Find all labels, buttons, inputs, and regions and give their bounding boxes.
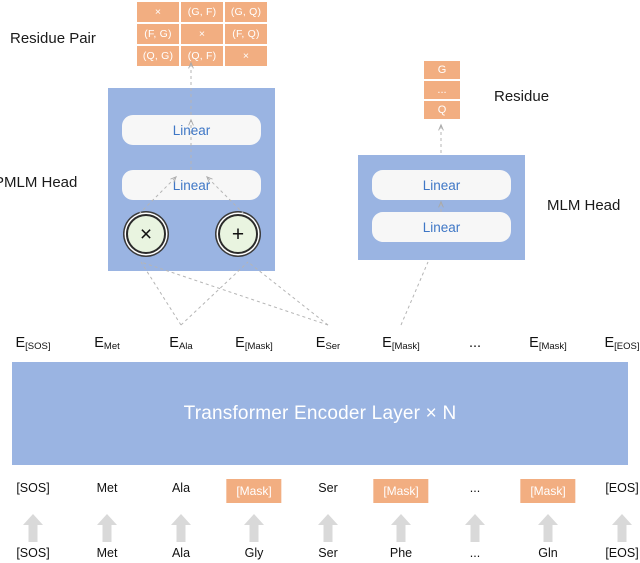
original-token: Met bbox=[97, 546, 118, 560]
embedding-token: E[EOS] bbox=[604, 335, 639, 351]
up-arrow-icon bbox=[317, 513, 339, 543]
token-label: [Mask] bbox=[226, 479, 281, 503]
sequence-token: Ser bbox=[318, 479, 337, 497]
residue-pair-cell: (G, Q) bbox=[225, 2, 267, 22]
embedding-base: E bbox=[235, 335, 245, 351]
token-label: [Mask] bbox=[373, 479, 428, 503]
residue-pair-cell: × bbox=[225, 46, 267, 66]
up-arrow-icon bbox=[170, 513, 192, 543]
sequence-token: [SOS] bbox=[16, 479, 49, 497]
token-label: [SOS] bbox=[16, 481, 49, 495]
up-arrow-icon bbox=[464, 513, 486, 543]
embedding-subscript: Ser bbox=[325, 341, 340, 352]
token-label: Met bbox=[97, 481, 118, 495]
residue-pair-matrix: ×(G, F)(G, Q)(F, G)×(F, Q)(Q, G)(Q, F)× bbox=[137, 2, 267, 66]
token-label: ... bbox=[470, 481, 480, 495]
embedding-token: E[Mask] bbox=[235, 335, 273, 351]
sequence-token: [EOS] bbox=[605, 479, 638, 497]
embedding-token: EMet bbox=[94, 335, 120, 351]
masked-token: [Mask] bbox=[226, 479, 281, 503]
original-token: ... bbox=[470, 546, 480, 560]
residue-label: Residue bbox=[494, 88, 549, 105]
token-label: Ser bbox=[318, 481, 337, 495]
up-arrow-icon bbox=[390, 513, 412, 543]
up-arrow-icon bbox=[96, 513, 118, 543]
token-label: Ala bbox=[172, 481, 190, 495]
original-token: [EOS] bbox=[605, 546, 638, 560]
mlm-linear-bottom[interactable]: Linear bbox=[372, 212, 511, 242]
residue-pair-label: Residue Pair bbox=[10, 30, 96, 47]
multiply-operation-icon: × bbox=[126, 214, 166, 254]
embedding-subscript: [EOS] bbox=[614, 341, 639, 352]
pmlm-linear-top[interactable]: Linear bbox=[122, 115, 261, 145]
masked-token: [Mask] bbox=[373, 479, 428, 503]
embedding-subscript: [Mask] bbox=[245, 341, 273, 352]
embedding-base: E bbox=[529, 335, 539, 351]
mlm-head-panel: Linear Linear bbox=[358, 155, 525, 260]
embedding-token: ESer bbox=[316, 335, 340, 351]
embedding-subscript: Ala bbox=[179, 341, 193, 352]
residue-pair-cell: × bbox=[181, 24, 223, 44]
transformer-encoder-block: Transformer Encoder Layer × N bbox=[12, 362, 628, 465]
embedding-token: E[Mask] bbox=[529, 335, 567, 351]
embedding-base: E bbox=[382, 335, 392, 351]
embedding-token: EAla bbox=[169, 335, 192, 351]
embedding-token: ... bbox=[469, 335, 481, 351]
embedding-token: E[Mask] bbox=[382, 335, 420, 351]
mlm-linear-top[interactable]: Linear bbox=[372, 170, 511, 200]
embedding-base: E bbox=[169, 335, 179, 351]
transformer-encoder-label: Transformer Encoder Layer × N bbox=[184, 403, 457, 425]
original-token: Ser bbox=[318, 546, 337, 560]
embedding-base: E bbox=[15, 335, 25, 351]
residue-output-stack: G...Q bbox=[424, 61, 460, 119]
residue-pair-cell: × bbox=[137, 2, 179, 22]
pmlm-linear-bottom[interactable]: Linear bbox=[122, 170, 261, 200]
pmlm-head-panel: Linear Linear × + bbox=[108, 88, 275, 271]
original-token: [SOS] bbox=[16, 546, 49, 560]
embedding-base: E bbox=[604, 335, 614, 351]
pmlm-head-label: PMLM Head bbox=[0, 174, 77, 191]
diagram-canvas: Residue Pair ×(G, F)(G, Q)(F, G)×(F, Q)(… bbox=[0, 0, 640, 563]
mlm-head-label: MLM Head bbox=[547, 197, 620, 214]
residue-pair-cell: (Q, F) bbox=[181, 46, 223, 66]
original-token: Phe bbox=[390, 546, 412, 560]
residue-cell: Q bbox=[424, 101, 460, 119]
embedding-base: E bbox=[94, 335, 104, 351]
up-arrow-icon bbox=[22, 513, 44, 543]
masked-token: [Mask] bbox=[520, 479, 575, 503]
up-arrow-icon bbox=[611, 513, 633, 543]
original-token: Ala bbox=[172, 546, 190, 560]
residue-pair-cell: (Q, G) bbox=[137, 46, 179, 66]
up-arrow-icon bbox=[243, 513, 265, 543]
token-label: [EOS] bbox=[605, 481, 638, 495]
original-token: Gln bbox=[538, 546, 557, 560]
up-arrow-icon bbox=[537, 513, 559, 543]
residue-pair-cell: (F, Q) bbox=[225, 24, 267, 44]
original-token: Gly bbox=[245, 546, 264, 560]
embedding-subscript: Met bbox=[104, 341, 120, 352]
residue-cell: ... bbox=[424, 81, 460, 99]
embedding-base: E bbox=[316, 335, 326, 351]
residue-cell: G bbox=[424, 61, 460, 79]
embedding-subscript: [Mask] bbox=[539, 341, 567, 352]
add-operation-icon: + bbox=[218, 214, 258, 254]
residue-pair-cell: (F, G) bbox=[137, 24, 179, 44]
sequence-token: Met bbox=[97, 479, 118, 497]
token-label: [Mask] bbox=[520, 479, 575, 503]
residue-pair-cell: (G, F) bbox=[181, 2, 223, 22]
embedding-subscript: [Mask] bbox=[392, 341, 420, 352]
embedding-token: E[SOS] bbox=[15, 335, 50, 351]
sequence-token: ... bbox=[470, 479, 480, 497]
embedding-subscript: [SOS] bbox=[25, 341, 50, 352]
sequence-token: Ala bbox=[172, 479, 190, 497]
